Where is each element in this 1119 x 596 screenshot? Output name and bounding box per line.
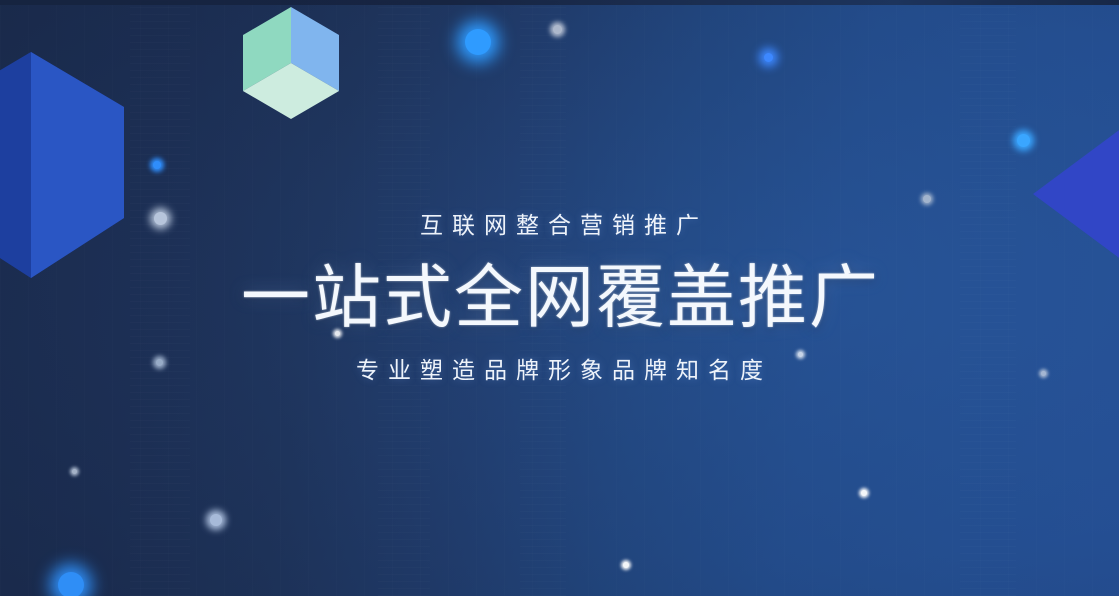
headline: 一站式全网覆盖推广 [239,263,880,333]
promo-banner: 互联网整合营销推广 一站式全网覆盖推广 专业塑造品牌形象品牌知名度 [0,0,1119,596]
tagline-bottom: 专业塑造品牌形象品牌知名度 [347,359,772,382]
banner-copy: 互联网整合营销推广 一站式全网覆盖推广 专业塑造品牌形象品牌知名度 [0,0,1119,596]
tagline-top: 互联网整合营销推广 [411,214,708,237]
